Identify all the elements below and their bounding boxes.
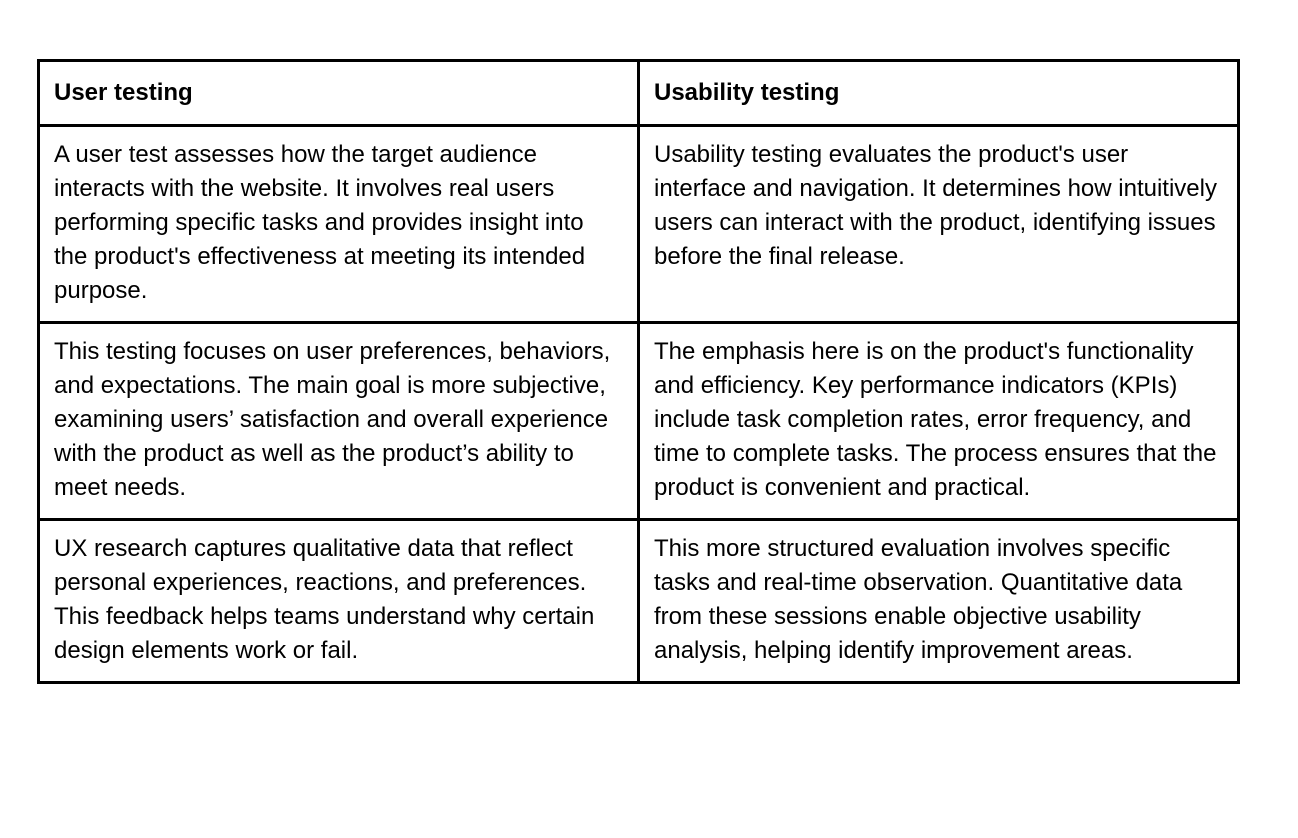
cell-user-testing-1: A user test assesses how the target audi… (39, 126, 639, 323)
cell-user-testing-2: This testing focuses on user preferences… (39, 323, 639, 520)
table-row: UX research captures qualitative data th… (39, 520, 1239, 683)
column-header-user-testing-label: User testing (54, 76, 623, 110)
table-body: A user test assesses how the target audi… (39, 126, 1239, 683)
table-row: A user test assesses how the target audi… (39, 126, 1239, 323)
column-header-usability-testing: Usability testing (639, 61, 1239, 126)
cell-usability-testing-3: This more structured evaluation involves… (639, 520, 1239, 683)
cell-user-testing-3: UX research captures qualitative data th… (39, 520, 639, 683)
cell-text: The emphasis here is on the product's fu… (654, 335, 1223, 505)
comparison-table: User testing Usability testing A user te… (37, 59, 1240, 684)
cell-text: A user test assesses how the target audi… (54, 138, 623, 308)
column-header-user-testing: User testing (39, 61, 639, 126)
table-row: This testing focuses on user preferences… (39, 323, 1239, 520)
cell-text: This more structured evaluation involves… (654, 532, 1223, 668)
cell-text: UX research captures qualitative data th… (54, 532, 623, 668)
cell-text: This testing focuses on user preferences… (54, 335, 623, 505)
page-canvas: User testing Usability testing A user te… (0, 0, 1298, 838)
table-header-row: User testing Usability testing (39, 61, 1239, 126)
cell-usability-testing-2: The emphasis here is on the product's fu… (639, 323, 1239, 520)
table-header: User testing Usability testing (39, 61, 1239, 126)
column-header-usability-testing-label: Usability testing (654, 76, 1223, 110)
cell-text: Usability testing evaluates the product'… (654, 138, 1223, 274)
cell-usability-testing-1: Usability testing evaluates the product'… (639, 126, 1239, 323)
